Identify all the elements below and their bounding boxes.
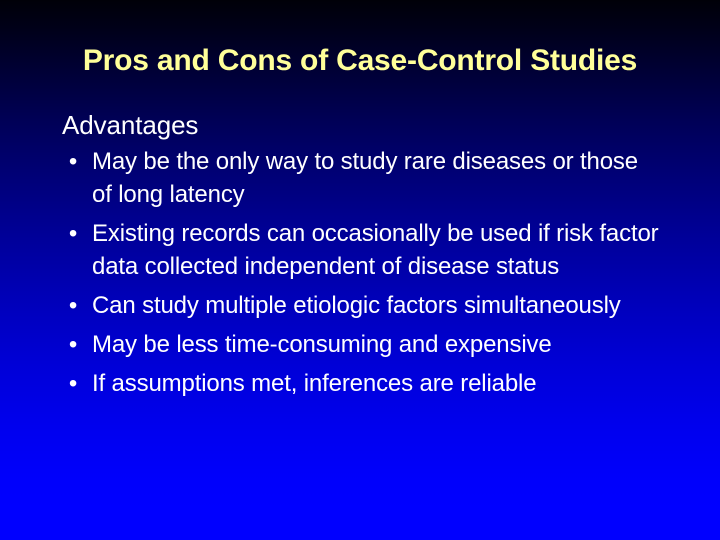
- list-item-label: May be the only way to study rare diseas…: [92, 145, 662, 211]
- slide-body: Advantages • May be the only way to stud…: [62, 110, 662, 400]
- presentation-slide: Pros and Cons of Case-Control Studies Ad…: [0, 0, 720, 540]
- bullet-dot-icon: •: [66, 289, 80, 322]
- page-title: Pros and Cons of Case-Control Studies: [0, 44, 720, 78]
- list-item: • Can study multiple etiologic factors s…: [62, 289, 662, 322]
- bullet-dot-icon: •: [66, 217, 80, 250]
- section-heading-advantages: Advantages: [62, 110, 662, 140]
- list-item-label: Existing records can occasionally be use…: [92, 217, 662, 283]
- list-item-label: May be less time-consuming and expensive: [92, 328, 662, 361]
- bullet-dot-icon: •: [66, 145, 80, 178]
- list-item: • May be less time-consuming and expensi…: [62, 328, 662, 361]
- bullet-dot-icon: •: [66, 328, 80, 361]
- bullet-dot-icon: •: [66, 367, 80, 400]
- list-item: • May be the only way to study rare dise…: [62, 145, 662, 211]
- list-item-label: If assumptions met, inferences are relia…: [92, 367, 662, 400]
- list-item: • If assumptions met, inferences are rel…: [62, 367, 662, 400]
- list-item: • Existing records can occasionally be u…: [62, 217, 662, 283]
- list-item-label: Can study multiple etiologic factors sim…: [92, 289, 662, 322]
- advantages-bullet-list: • May be the only way to study rare dise…: [62, 145, 662, 400]
